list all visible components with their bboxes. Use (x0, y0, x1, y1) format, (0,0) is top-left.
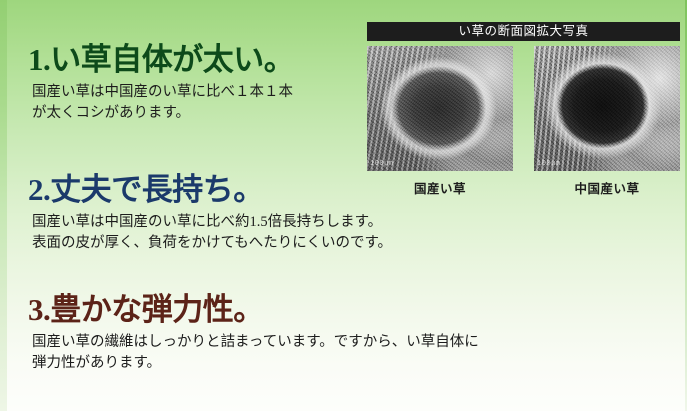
feature-3-body: 国産い草の繊維はしっかりと詰まっています。ですから、い草自体に 弾力性があります… (32, 332, 470, 374)
sem-photo-domestic: 100μm (367, 46, 513, 171)
photo-cell-chinese: 100μm 中国産い草 (534, 46, 680, 197)
feature-2-body-line-1: 国産い草は中国産のい草に比べ約1.5倍長持ちします。 (32, 212, 470, 233)
photo-panel: い草の断面図拡大写真 100μm 国産い草 100μm 中国産い草 (367, 22, 680, 197)
feature-3-body-line-2: 弾力性があります。 (32, 353, 470, 374)
sem-scale-stamp-domestic: 100μm (370, 160, 510, 169)
sem-grain-overlay-chinese (534, 46, 680, 171)
photo-cell-domestic: 100μm 国産い草 (367, 46, 513, 197)
sem-photo-chinese: 100μm (534, 46, 680, 171)
photo-row: 100μm 国産い草 100μm 中国産い草 (367, 46, 680, 197)
igusa-comparison-infographic: 1.い草自体が太い。 国産い草は中国産のい草に比べ１本１本 が太くコシがあります… (0, 0, 700, 411)
feature-2-body-line-2: 表面の皮が厚く、負荷をかけてもへたりにくいのです。 (32, 233, 470, 254)
feature-3-body-line-1: 国産い草の繊維はしっかりと詰まっています。ですから、い草自体に (32, 332, 470, 353)
photo-panel-title: い草の断面図拡大写真 (367, 22, 680, 41)
feature-section-3: 3.豊かな弾力性。 国産い草の繊維はしっかりと詰まっています。ですから、い草自体… (0, 290, 470, 374)
feature-3-heading: 3.豊かな弾力性。 (28, 290, 470, 330)
sem-scale-stamp-chinese: 100μm (537, 160, 677, 169)
sem-grain-overlay-domestic (367, 46, 513, 171)
feature-2-body: 国産い草は中国産のい草に比べ約1.5倍長持ちします。 表面の皮が厚く、負荷をかけ… (32, 212, 470, 254)
photo-caption-chinese: 中国産い草 (534, 178, 680, 197)
photo-caption-domestic: 国産い草 (367, 178, 513, 197)
right-white-margin (687, 0, 700, 411)
